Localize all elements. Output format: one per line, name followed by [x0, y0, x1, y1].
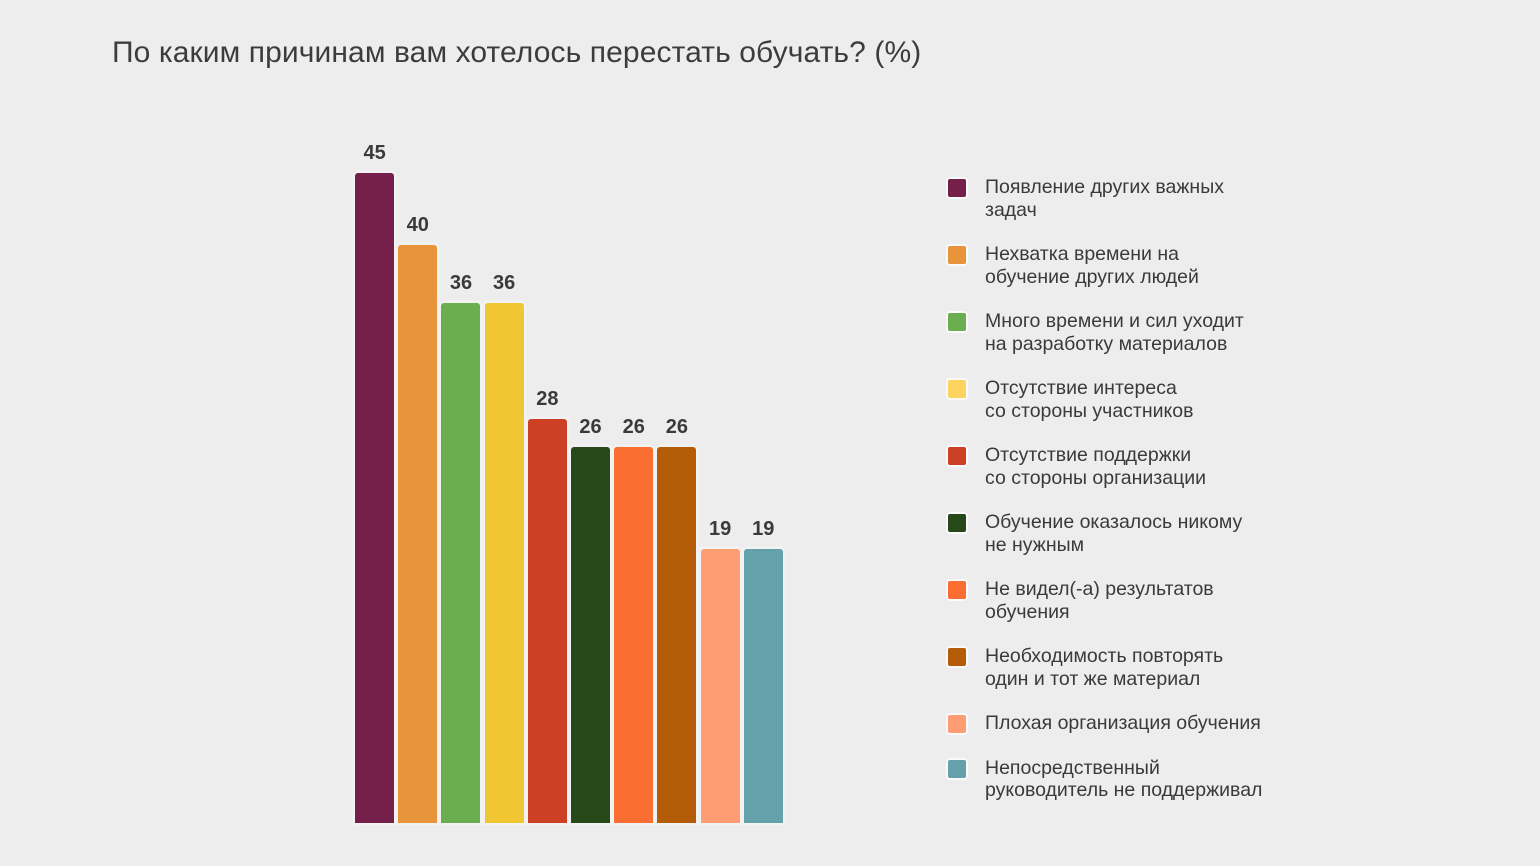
legend-color-swatch	[948, 246, 966, 264]
bar-value-label: 28	[526, 388, 569, 411]
legend-color-swatch	[948, 380, 966, 398]
legend-item[interactable]: Непосредственный руководитель не поддерж…	[948, 757, 1368, 802]
bar[interactable]	[355, 173, 394, 823]
legend-item[interactable]: Отсутствие поддержки со стороны организа…	[948, 444, 1368, 489]
legend-color-swatch	[948, 760, 966, 778]
bar-value-label: 26	[612, 416, 655, 439]
bar-column: 45	[353, 120, 396, 823]
bar[interactable]	[398, 245, 437, 823]
bar-value-label: 19	[699, 518, 742, 541]
bar-value-label: 40	[396, 214, 439, 237]
legend-color-swatch	[948, 648, 966, 666]
bar[interactable]	[528, 419, 567, 823]
legend-item-label: Много времени и сил уходит на разработку…	[985, 310, 1244, 355]
legend-item[interactable]: Отсутствие интереса со стороны участнико…	[948, 377, 1368, 422]
legend-item-label: Необходимость повторять один и тот же ма…	[985, 645, 1223, 690]
legend-item-label: Отсутствие поддержки со стороны организа…	[985, 444, 1206, 489]
bar-value-label: 36	[483, 272, 526, 295]
bar-column: 28	[526, 120, 569, 823]
chart-title: По каким причинам вам хотелось перестать…	[112, 36, 921, 70]
legend-item[interactable]: Плохая организация обучения	[948, 712, 1368, 735]
bar[interactable]	[485, 303, 524, 823]
bar[interactable]	[657, 447, 696, 823]
bar-value-label: 26	[655, 416, 698, 439]
bar-column: 40	[396, 120, 439, 823]
legend-color-swatch	[948, 715, 966, 733]
legend-item[interactable]: Обучение оказалось никому не нужным	[948, 511, 1368, 556]
bar-value-label: 45	[353, 142, 396, 165]
bar-series: 45403636282626261919	[353, 120, 785, 823]
bar-column: 19	[699, 120, 742, 823]
bar-value-label: 19	[742, 518, 785, 541]
bar-column: 19	[742, 120, 785, 823]
bar[interactable]	[614, 447, 653, 823]
bar-value-label: 36	[439, 272, 482, 295]
legend-color-swatch	[948, 447, 966, 465]
legend-item-label: Непосредственный руководитель не поддерж…	[985, 757, 1262, 802]
bar-column: 36	[483, 120, 526, 823]
legend-color-swatch	[948, 581, 966, 599]
bar-column: 36	[439, 120, 482, 823]
plot-area: 45403636282626261919	[353, 120, 785, 823]
bar[interactable]	[744, 549, 783, 823]
bar-column: 26	[655, 120, 698, 823]
legend-item-label: Не видел(-а) результатов обучения	[985, 578, 1214, 623]
chart-legend: Появление других важных задачНехватка вр…	[948, 176, 1368, 802]
legend-item-label: Обучение оказалось никому не нужным	[985, 511, 1242, 556]
bar-column: 26	[569, 120, 612, 823]
bar-column: 26	[612, 120, 655, 823]
legend-item[interactable]: Много времени и сил уходит на разработку…	[948, 310, 1368, 355]
legend-color-swatch	[948, 514, 966, 532]
legend-item[interactable]: Появление других важных задач	[948, 176, 1368, 221]
bar[interactable]	[571, 447, 610, 823]
legend-item[interactable]: Нехватка времени на обучение других люде…	[948, 243, 1368, 288]
legend-item-label: Появление других важных задач	[985, 176, 1224, 221]
legend-color-swatch	[948, 179, 966, 197]
legend-item-label: Нехватка времени на обучение других люде…	[985, 243, 1199, 288]
legend-item-label: Отсутствие интереса со стороны участнико…	[985, 377, 1193, 422]
legend-item-label: Плохая организация обучения	[985, 712, 1261, 735]
legend-item[interactable]: Необходимость повторять один и тот же ма…	[948, 645, 1368, 690]
bar[interactable]	[701, 549, 740, 823]
legend-item[interactable]: Не видел(-а) результатов обучения	[948, 578, 1368, 623]
bar-value-label: 26	[569, 416, 612, 439]
bar[interactable]	[441, 303, 480, 823]
chart-page: По каким причинам вам хотелось перестать…	[0, 0, 1540, 866]
legend-color-swatch	[948, 313, 966, 331]
